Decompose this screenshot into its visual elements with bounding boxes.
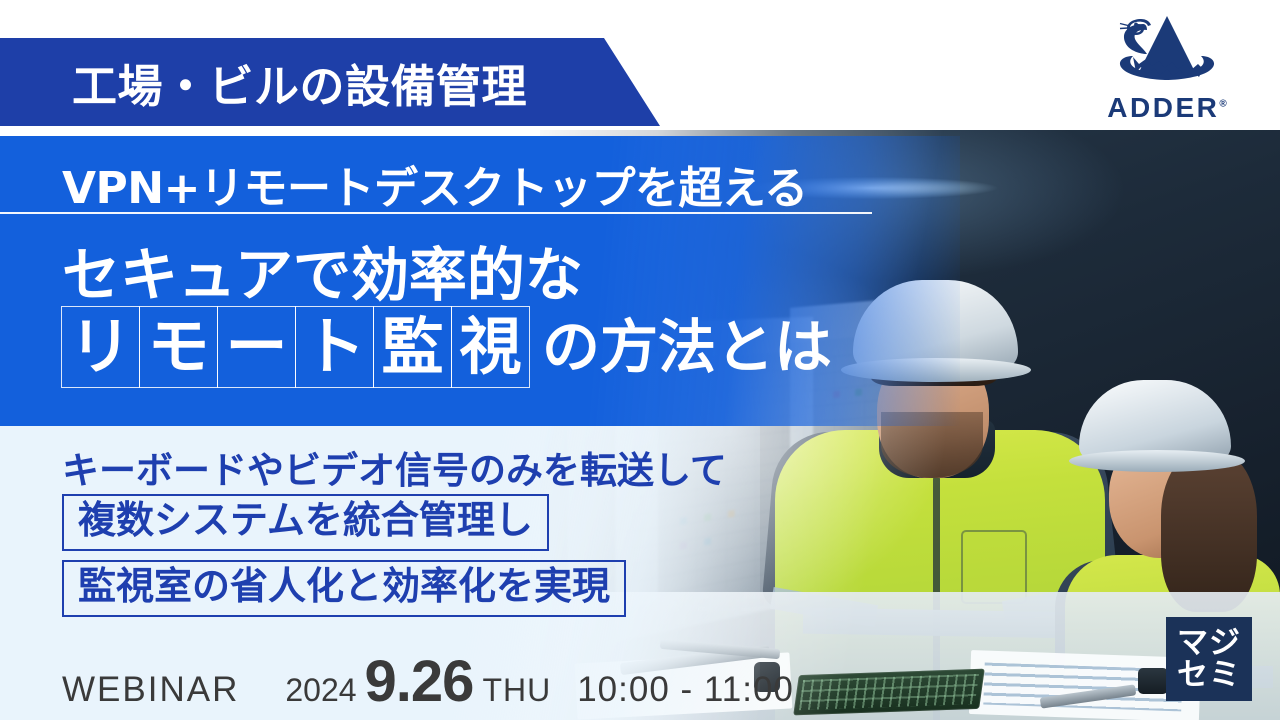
- webinar-label: WEBINAR: [62, 670, 239, 710]
- boxed-char: ー: [217, 306, 296, 388]
- adder-wordmark: ADDER®: [1082, 92, 1252, 124]
- boxed-char: モ: [139, 306, 218, 388]
- headline-line-2: セキュアで効率的な: [62, 228, 583, 312]
- adder-wordmark-text: ADDER: [1107, 92, 1219, 123]
- subhead-boxed-2-label: 監視室の省人化と効率化を実現: [78, 565, 610, 609]
- category-ribbon-label: 工場・ビルの設備管理: [0, 50, 527, 115]
- headline-line-1: VPN+リモートデスクトップを超える: [62, 152, 808, 216]
- webinar-schedule: WEBINAR 2024 9.26 THU 10:00 - 11:00: [62, 648, 794, 715]
- majisemi-line-1: マジ: [1177, 627, 1241, 659]
- headline-divider: [0, 212, 872, 214]
- headline-line-3: リ モ ー ト 監 視 の方法とは: [62, 306, 832, 388]
- subhead-boxed-1: 複数システムを統合管理し: [62, 494, 549, 551]
- registered-mark: ®: [1219, 99, 1226, 110]
- adder-logo: ADDER®: [1082, 10, 1252, 130]
- boxed-char: 監: [373, 306, 452, 388]
- majisemi-line-2: セミ: [1177, 659, 1241, 691]
- subhead-boxed-2: 監視室の省人化と効率化を実現: [62, 560, 626, 617]
- webinar-date: 9.26: [365, 648, 474, 715]
- webinar-day-of-week: THU: [482, 672, 551, 709]
- boxed-char: 視: [451, 306, 530, 388]
- category-ribbon: 工場・ビルの設備管理: [0, 38, 660, 126]
- subhead-lead: キーボードやビデオ信号のみを転送して: [62, 440, 727, 494]
- webinar-time: 10:00 - 11:00: [577, 670, 794, 710]
- boxed-keyword: リ モ ー ト 監 視: [62, 306, 530, 388]
- majisemi-logo: マジ セミ: [1166, 617, 1252, 701]
- boxed-char: リ: [61, 306, 140, 388]
- webinar-year: 2024: [285, 672, 356, 709]
- subhead-boxed-1-label: 複数システムを統合管理し: [78, 499, 533, 543]
- banner-stage: 工場・ビルの設備管理 ADDER® VPN+リモートデスクトップを超える セキュ…: [0, 0, 1280, 720]
- headline-line-3-tail: の方法とは: [542, 318, 832, 376]
- snake-triangle-icon: [1103, 10, 1231, 90]
- boxed-char: ト: [295, 306, 374, 388]
- keyboard-icon: [793, 669, 985, 716]
